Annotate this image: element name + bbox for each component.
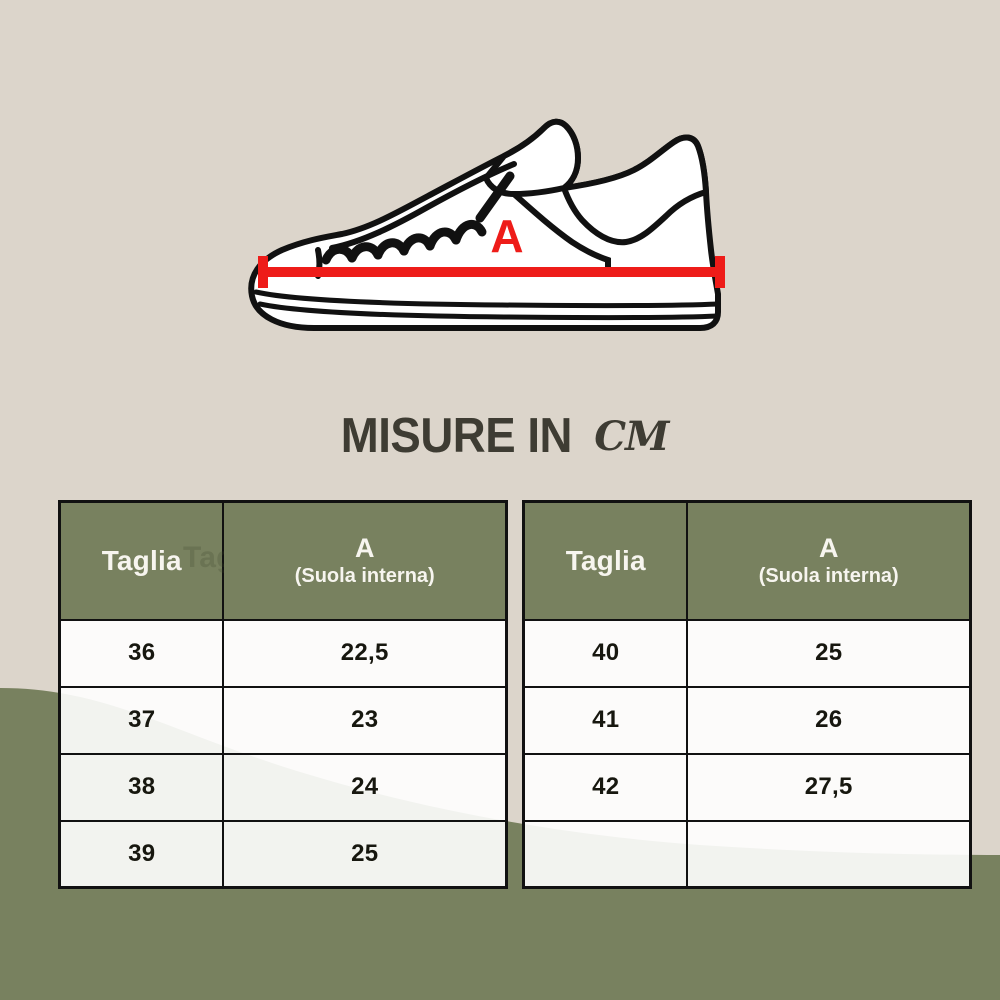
cell-size <box>524 821 688 888</box>
cell-measure: 22,5 <box>223 620 506 687</box>
header-cell-measure: A (Suola interna) <box>223 502 506 620</box>
table-header-row: Taglia Taglia A (Suola interna) <box>60 502 507 620</box>
cell-size: 41 <box>524 687 688 754</box>
page-title: MISURE INCM <box>0 408 1000 464</box>
cell-size: 36 <box>60 620 224 687</box>
header-size-label: Taglia <box>102 545 182 576</box>
measurement-label-a: A <box>490 210 523 262</box>
table-row: 37 23 <box>60 687 507 754</box>
cell-measure: 24 <box>223 754 506 821</box>
table-row: 40 25 <box>524 620 971 687</box>
table-row-empty <box>524 821 971 888</box>
cell-size: 38 <box>60 754 224 821</box>
table-row: 42 27,5 <box>524 754 971 821</box>
size-tables-container: Taglia Taglia A (Suola interna) 36 22,5 … <box>58 500 972 886</box>
size-chart-page: A MISURE INCM Taglia Taglia A (Suola int… <box>0 0 1000 1000</box>
cell-size: 42 <box>524 754 688 821</box>
header-measure-sublabel: (Suola interna) <box>688 565 969 588</box>
table-row: 41 26 <box>524 687 971 754</box>
title-unit-text: CM <box>594 413 668 460</box>
header-cell-size: Taglia <box>524 502 688 620</box>
table-header-row: Taglia A (Suola interna) <box>524 502 971 620</box>
table-head: Taglia Taglia A (Suola interna) <box>60 502 507 620</box>
sneaker-side-view-icon: A <box>222 100 762 350</box>
cell-measure: 27,5 <box>687 754 970 821</box>
size-table-left: Taglia Taglia A (Suola interna) 36 22,5 … <box>58 500 508 889</box>
header-measure-sublabel: (Suola interna) <box>224 565 505 588</box>
cell-size: 39 <box>60 821 224 888</box>
header-measure-label: A <box>688 534 969 562</box>
cell-measure <box>687 821 970 888</box>
cell-size: 40 <box>524 620 688 687</box>
table-body: 40 25 41 26 42 27,5 <box>524 620 971 888</box>
header-size-label: Taglia <box>566 545 646 576</box>
cell-size: 37 <box>60 687 224 754</box>
cell-measure: 26 <box>687 687 970 754</box>
table-body: 36 22,5 37 23 38 24 39 25 <box>60 620 507 888</box>
cell-measure: 25 <box>687 620 970 687</box>
cell-measure: 25 <box>223 821 506 888</box>
cell-measure: 23 <box>223 687 506 754</box>
table-row: 39 25 <box>60 821 507 888</box>
table-row: 38 24 <box>60 754 507 821</box>
table-row: 36 22,5 <box>60 620 507 687</box>
title-main-text: MISURE IN <box>340 408 571 464</box>
header-cell-measure: A (Suola interna) <box>687 502 970 620</box>
shoe-illustration: A <box>222 100 762 350</box>
header-measure-label: A <box>224 534 505 562</box>
size-table-right: Taglia A (Suola interna) 40 25 41 26 <box>522 500 972 889</box>
header-cell-size: Taglia Taglia <box>60 502 224 620</box>
table-head: Taglia A (Suola interna) <box>524 502 971 620</box>
